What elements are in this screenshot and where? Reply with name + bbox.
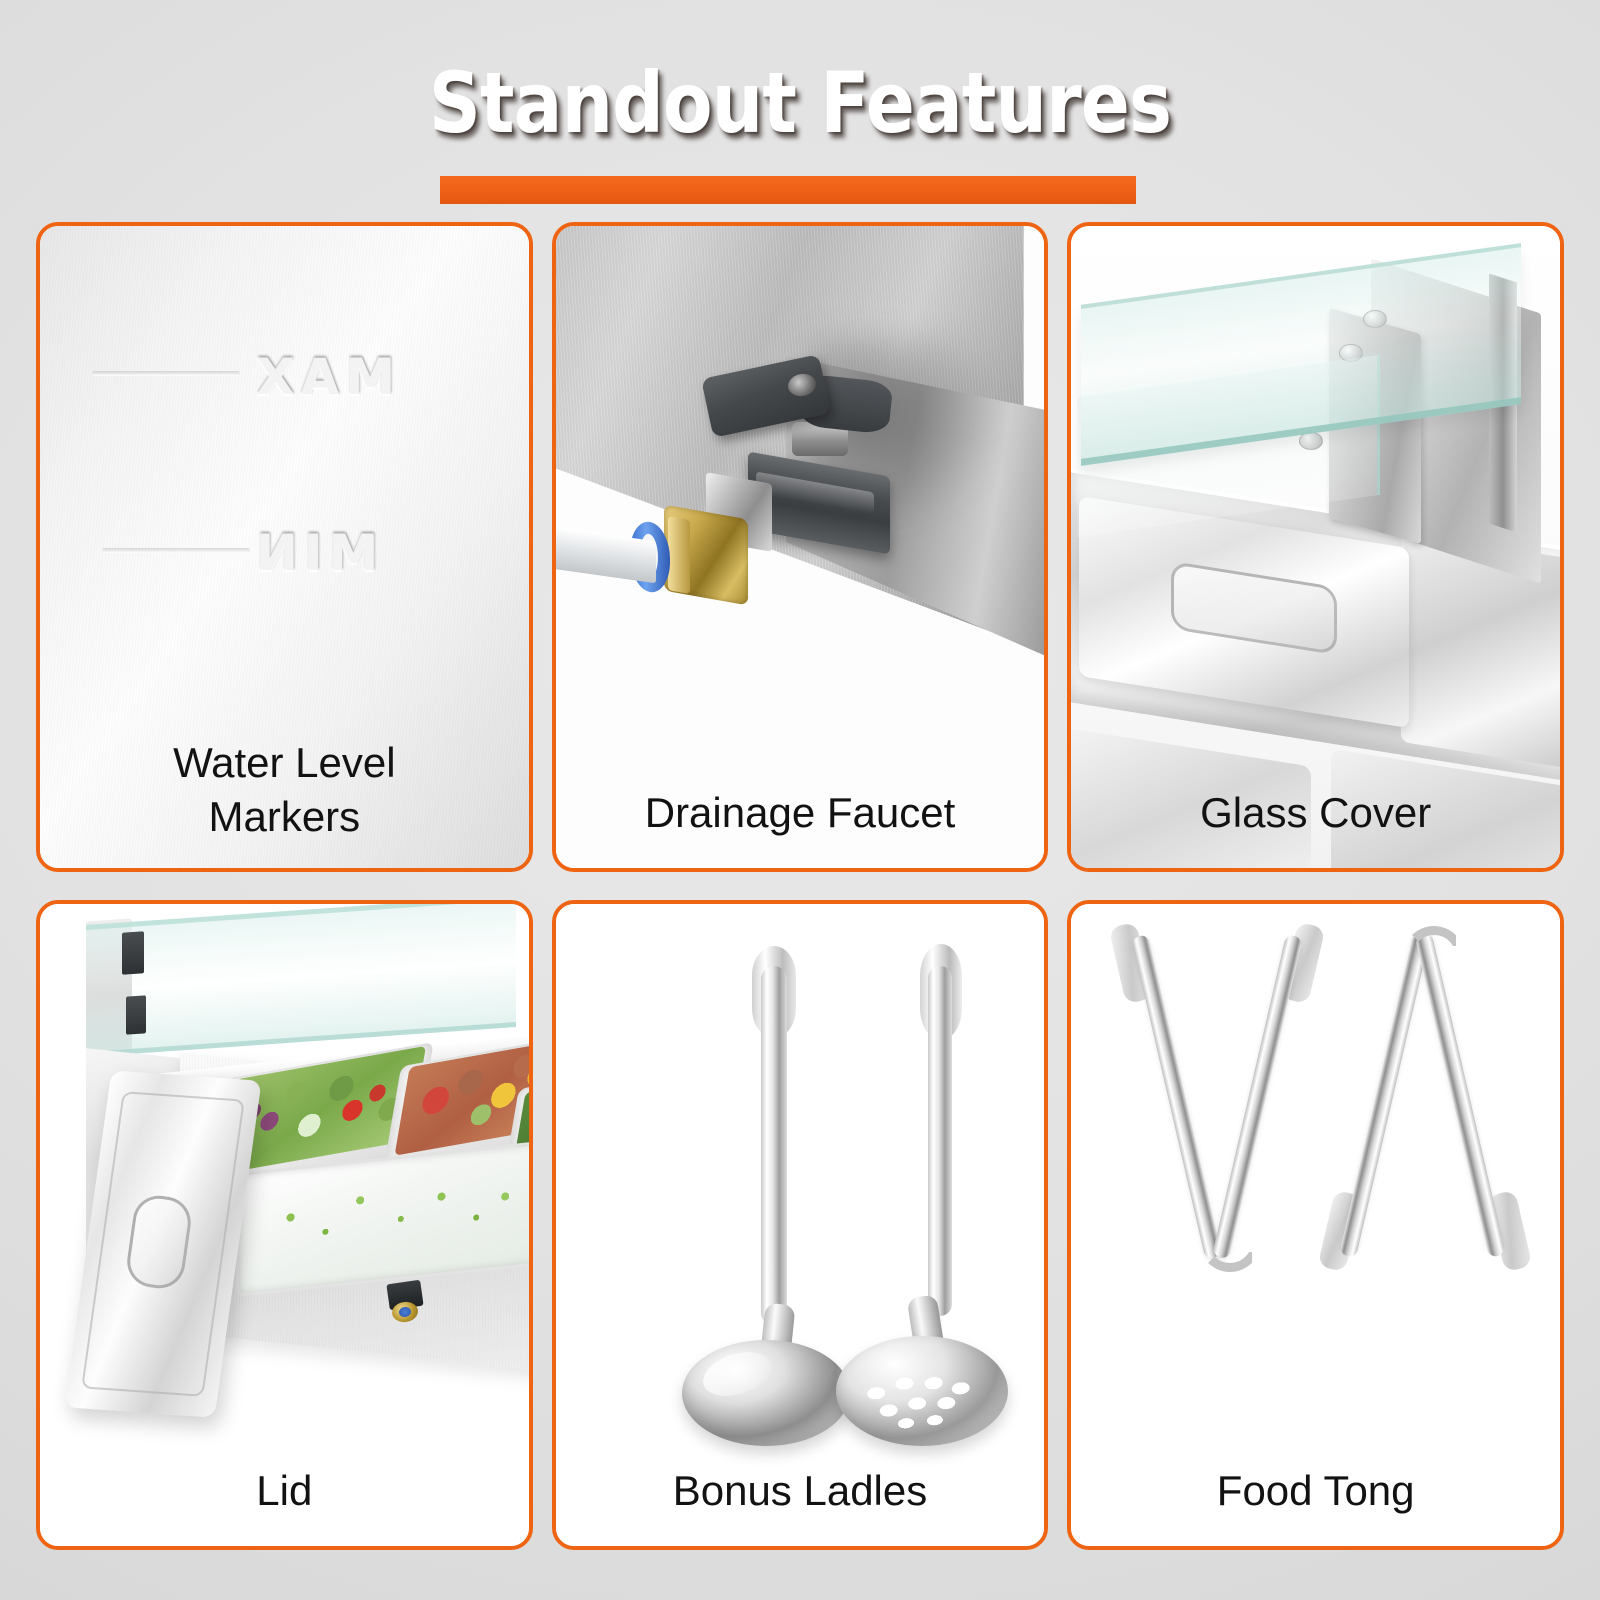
slotted-ladle-perforations <box>853 1359 991 1438</box>
lid-photo <box>40 904 529 1546</box>
bonus-ladles-photo <box>556 904 1045 1546</box>
photo-backdrop <box>556 904 1045 1546</box>
food-tong-photo <box>1071 904 1560 1546</box>
slotted-ladle-handle <box>928 966 952 1316</box>
feature-card-bonus-ladles[interactable]: Bonus Ladles <box>552 900 1049 1550</box>
glass-cover-photo <box>1071 226 1560 868</box>
min-indicator-dash <box>102 548 250 553</box>
feature-card-grid: MAX MIN Water Level Markers Dra <box>36 222 1564 1550</box>
feature-card-drainage-faucet[interactable]: Drainage Faucet <box>552 222 1049 872</box>
feature-card-glass-cover[interactable]: Glass Cover <box>1067 222 1564 872</box>
max-embossed-label: MAX <box>250 348 395 406</box>
solid-ladle-handle <box>761 966 787 1326</box>
glass-clip-upper <box>122 931 144 975</box>
feature-card-lid[interactable]: Lid <box>36 900 533 1550</box>
brass-nut-face <box>668 516 690 594</box>
min-embossed-label: MIN <box>250 524 378 582</box>
page-header: Standout Features <box>0 48 1600 168</box>
water-level-markers-photo: MAX MIN <box>40 226 529 868</box>
max-indicator-dash <box>92 371 240 376</box>
title-highlight-bar <box>440 176 1136 204</box>
feature-card-food-tong[interactable]: Food Tong <box>1067 900 1564 1550</box>
feature-card-water-level-markers[interactable]: MAX MIN Water Level Markers <box>36 222 533 872</box>
page-title: Standout Features <box>112 48 1488 158</box>
glass-clip-lower <box>126 995 146 1034</box>
drainage-faucet-photo <box>556 226 1045 868</box>
